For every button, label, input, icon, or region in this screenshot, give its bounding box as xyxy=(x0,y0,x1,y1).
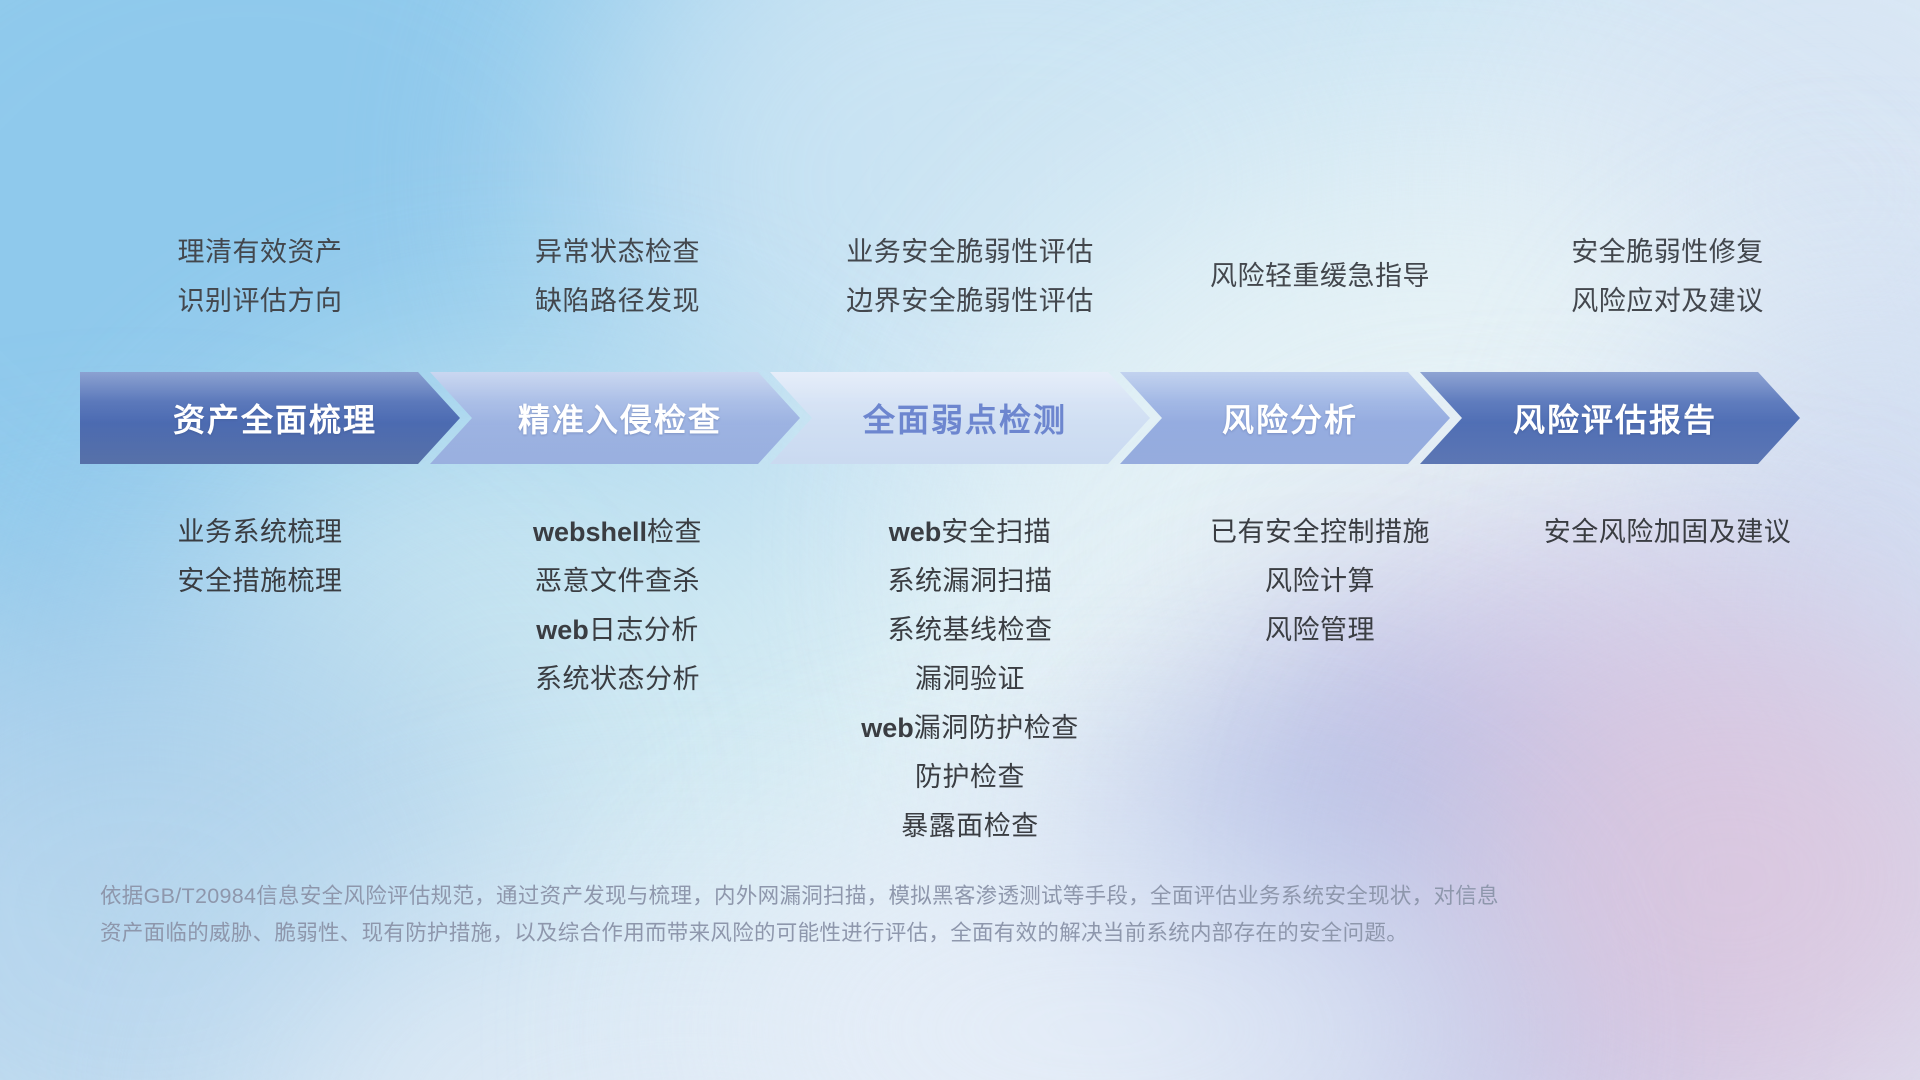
list-item: web日志分析 xyxy=(536,606,699,655)
list-item: 业务安全脆弱性评估 xyxy=(846,228,1094,277)
list-item: 理清有效资产 xyxy=(178,228,343,277)
list-item: 系统基线检查 xyxy=(888,606,1053,655)
list-item: 已有安全控制措施 xyxy=(1210,508,1430,557)
latin-token: web xyxy=(536,615,589,645)
list-item: 缺陷路径发现 xyxy=(535,277,700,326)
list-item: 风险管理 xyxy=(1265,606,1375,655)
stage-3-top-items: 业务安全脆弱性评估 边界安全脆弱性评估 xyxy=(795,228,1145,326)
footer-description: 依据GB/T20984信息安全风险评估规范，通过资产发现与梳理，内外网漏洞扫描，… xyxy=(100,878,1660,952)
stage-inputs-row: 理清有效资产 识别评估方向 异常状态检查 缺陷路径发现 业务安全脆弱性评估 边界… xyxy=(80,228,1840,326)
list-item: 边界安全脆弱性评估 xyxy=(846,277,1094,326)
list-item: 漏洞验证 xyxy=(915,655,1025,704)
process-stage-5[interactable]: 风险评估报告 xyxy=(1420,372,1800,464)
list-item: 风险轻重缓急指导 xyxy=(1210,252,1430,301)
latin-token: webshell xyxy=(533,517,647,547)
stage-label: 精准入侵检查 xyxy=(508,395,722,441)
stage-label: 风险评估报告 xyxy=(1503,395,1717,441)
stage-outputs-row: 业务系统梳理 安全措施梳理 webshell检查 恶意文件查杀 web日志分析 … xyxy=(80,508,1840,851)
list-item: 恶意文件查杀 xyxy=(535,557,700,606)
stage-label: 风险分析 xyxy=(1212,395,1358,441)
list-item: web安全扫描 xyxy=(889,508,1052,557)
list-item: 异常状态检查 xyxy=(535,228,700,277)
list-item: 识别评估方向 xyxy=(178,277,343,326)
list-item: 风险计算 xyxy=(1265,557,1375,606)
stage-4-top-items: 风险轻重缓急指导 xyxy=(1145,228,1495,301)
process-stage-4[interactable]: 风险分析 xyxy=(1120,372,1450,464)
list-item: 安全措施梳理 xyxy=(178,557,343,606)
process-stage-2[interactable]: 精准入侵检查 xyxy=(430,372,800,464)
stage-5-top-items: 安全脆弱性修复 风险应对及建议 xyxy=(1495,228,1840,326)
stage-4-bottom-items: 已有安全控制措施 风险计算 风险管理 xyxy=(1145,508,1495,655)
latin-token: web xyxy=(889,517,942,547)
list-item: 系统漏洞扫描 xyxy=(888,557,1053,606)
stage-1-bottom-items: 业务系统梳理 安全措施梳理 xyxy=(80,508,440,606)
footer-line-2: 资产面临的威胁、脆弱性、现有防护措施，以及综合作用而带来风险的可能性进行评估，全… xyxy=(100,915,1660,952)
stage-1-top-items: 理清有效资产 识别评估方向 xyxy=(80,228,440,326)
stage-5-bottom-items: 安全风险加固及建议 xyxy=(1495,508,1840,557)
list-item: 系统状态分析 xyxy=(535,655,700,704)
process-stage-1[interactable]: 资产全面梳理 xyxy=(80,372,460,464)
stage-2-bottom-items: webshell检查 恶意文件查杀 web日志分析 系统状态分析 xyxy=(440,508,795,704)
list-item: web漏洞防护检查 xyxy=(861,704,1079,753)
footer-line-1: 依据GB/T20984信息安全风险评估规范，通过资产发现与梳理，内外网漏洞扫描，… xyxy=(100,878,1660,915)
list-item: 安全风险加固及建议 xyxy=(1544,508,1792,557)
list-item: 安全脆弱性修复 xyxy=(1571,228,1764,277)
process-diagram: 理清有效资产 识别评估方向 异常状态检查 缺陷路径发现 业务安全脆弱性评估 边界… xyxy=(0,0,1920,1080)
stage-3-bottom-items: web安全扫描 系统漏洞扫描 系统基线检查 漏洞验证 web漏洞防护检查 防护检… xyxy=(795,508,1145,851)
stage-label: 全面弱点检测 xyxy=(853,395,1067,441)
list-item: 业务系统梳理 xyxy=(178,508,343,557)
list-item: 防护检查 xyxy=(915,753,1025,802)
latin-token: web xyxy=(861,713,914,743)
process-chevron-bar: 资产全面梳理 精准入侵检查 全面弱点检测 风险分析 风险评估报告 xyxy=(80,372,1850,464)
list-item: 风险应对及建议 xyxy=(1571,277,1764,326)
list-item: 暴露面检查 xyxy=(901,802,1039,851)
stage-label: 资产全面梳理 xyxy=(163,395,377,441)
stage-2-top-items: 异常状态检查 缺陷路径发现 xyxy=(440,228,795,326)
process-stage-3[interactable]: 全面弱点检测 xyxy=(770,372,1150,464)
list-item: webshell检查 xyxy=(533,508,702,557)
